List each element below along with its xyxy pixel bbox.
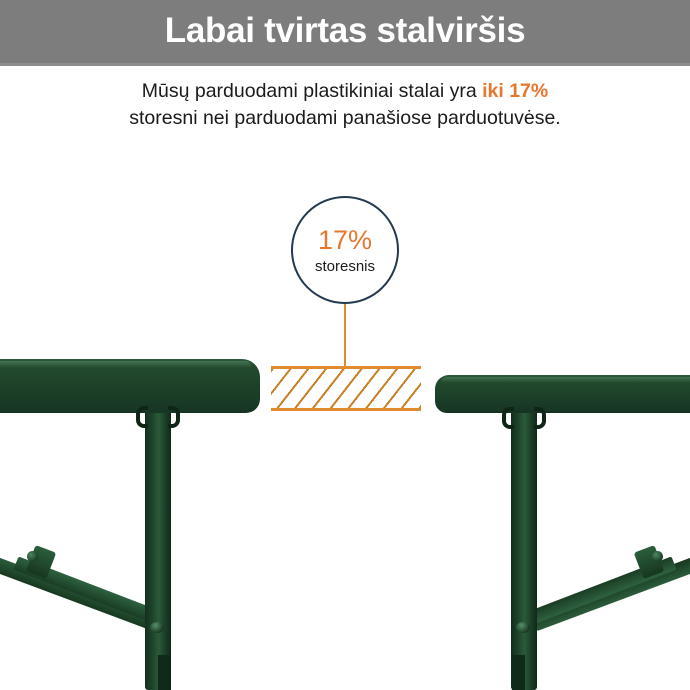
right-leg-clamp-left: [502, 407, 514, 429]
subtitle-text: Mūsų parduodami plastikiniai stalai yra …: [0, 78, 690, 132]
right-leg-foot: [512, 655, 525, 690]
callout-label: storesnis: [315, 259, 375, 274]
left-collar-rivet: [27, 551, 38, 562]
subtitle-line-1: Mūsų parduodami plastikiniai stalai yra …: [0, 78, 690, 105]
subtitle-line-2: storesni nei parduodami panašiose parduo…: [0, 105, 690, 132]
header-bar: Labai tvirtas stalviršis: [0, 0, 690, 66]
hatch-rule-top: [271, 366, 421, 369]
right-leg-rivet: [516, 622, 530, 633]
left-leg-foot: [158, 655, 171, 690]
page-title: Labai tvirtas stalviršis: [165, 13, 526, 48]
callout-leader-line: [344, 304, 346, 367]
thickness-callout-badge: 17% storesnis: [291, 196, 399, 304]
infographic-canvas: Labai tvirtas stalviršis Mūsų parduodami…: [0, 0, 690, 690]
subtitle-line-1-text: Mūsų parduodami plastikiniai stalai yra: [142, 80, 482, 102]
right-leg-clamp-right: [534, 407, 546, 429]
subtitle-highlight: iki 17%: [482, 80, 548, 102]
right-collar-rivet: [652, 551, 663, 562]
callout-percent: 17%: [318, 227, 372, 254]
hatch-fill: [271, 368, 421, 408]
left-leg-rivet: [150, 622, 164, 633]
left-table-leg: [145, 404, 171, 690]
right-table-top-highlight: [441, 377, 690, 383]
hatch-rule-bottom: [271, 408, 421, 411]
left-leg-clamp-right: [168, 406, 180, 428]
right-table-leg: [511, 405, 537, 690]
left-leg-clamp-left: [136, 406, 148, 428]
thickness-hatch-marker: [271, 364, 421, 412]
left-table-top-highlight: [0, 361, 252, 368]
